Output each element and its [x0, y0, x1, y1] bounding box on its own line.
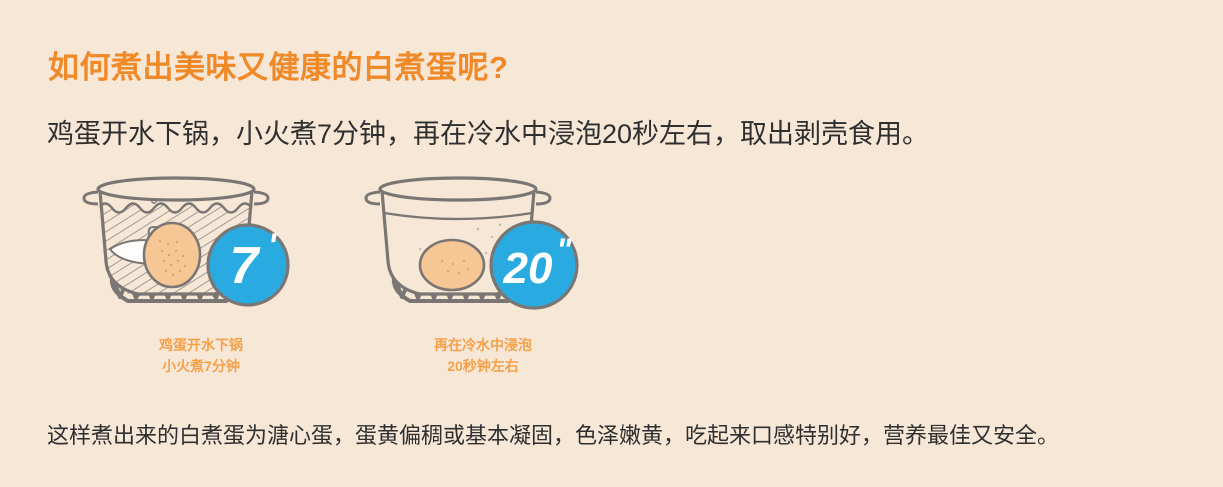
- pot-cold-water-with-egg-illustration: 20 ": [358, 165, 608, 315]
- step-card-cool: 20 " 再在冷水中浸泡 20秒钟左右: [358, 165, 608, 395]
- badge-unit-second: ": [556, 232, 572, 268]
- step-card-boil: 7 ' 鸡蛋开水下锅 小火煮7分钟: [76, 165, 326, 395]
- conclusion-paragraph: 这样煮出来的白煮蛋为溏心蛋，蛋黄偏稠或基本凝固，色泽嫩黄，吃起来口感特别好，营养…: [47, 418, 1059, 450]
- lead-paragraph: 鸡蛋开水下锅，小火煮7分钟，再在冷水中浸泡20秒左右，取出剥壳食用。: [47, 112, 929, 151]
- duration-badge-7: 7 ': [208, 225, 288, 305]
- caption-line-1: 再在冷水中浸泡: [358, 335, 608, 356]
- pot-boiling-water-with-egg-illustration: 7 ': [76, 165, 326, 315]
- page-title: 如何煮出美味又健康的白煮蛋呢?: [48, 42, 508, 87]
- badge-value-7: 7: [230, 237, 261, 295]
- egg-icon: [420, 240, 484, 290]
- caption-line-2: 20秒钟左右: [358, 356, 608, 377]
- step-caption-cool: 再在冷水中浸泡 20秒钟左右: [358, 335, 608, 377]
- caption-line-1: 鸡蛋开水下锅: [76, 335, 326, 356]
- step-caption-boil: 鸡蛋开水下锅 小火煮7分钟: [76, 335, 326, 377]
- duration-badge-20: 20 ": [491, 222, 577, 308]
- caption-line-2: 小火煮7分钟: [76, 356, 326, 377]
- steps-container: 7 ' 鸡蛋开水下锅 小火煮7分钟: [0, 165, 1223, 395]
- infographic-page: 如何煮出美味又健康的白煮蛋呢? 鸡蛋开水下锅，小火煮7分钟，再在冷水中浸泡20秒…: [0, 0, 1223, 487]
- badge-value-20: 20: [503, 244, 553, 293]
- egg-icon: [144, 223, 200, 287]
